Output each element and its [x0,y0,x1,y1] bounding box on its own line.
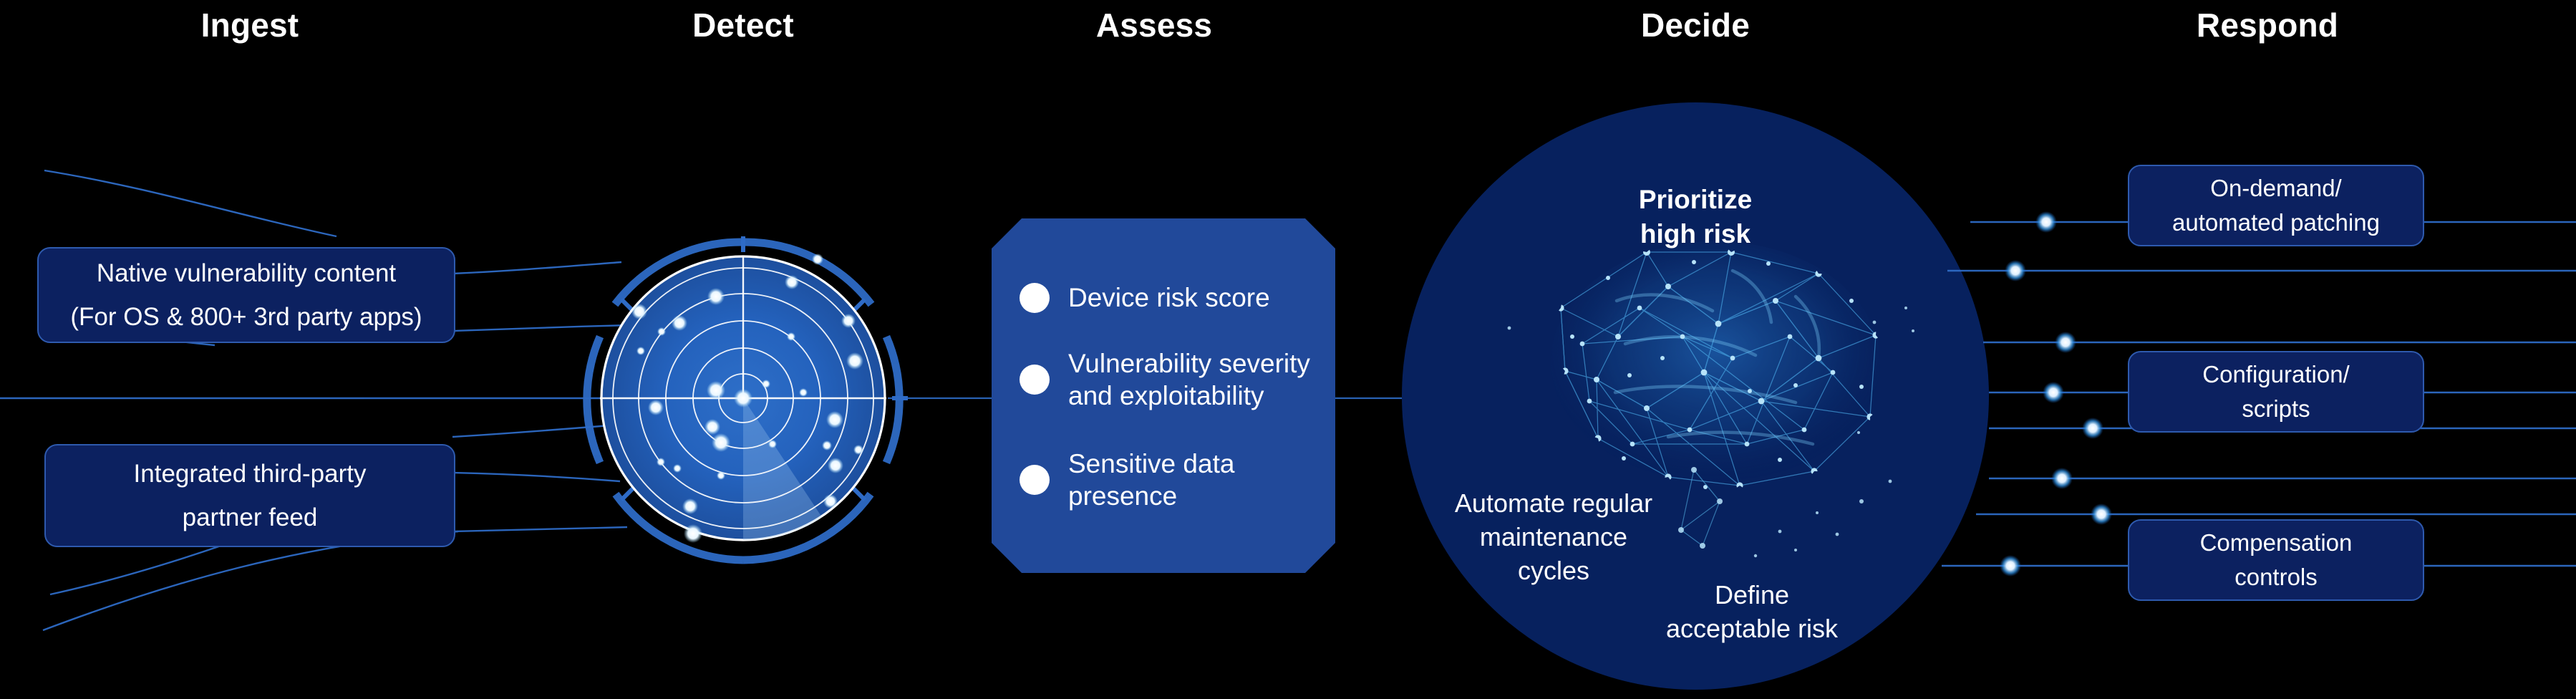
box-line: Native vulnerability content [97,251,396,295]
box-line: (For OS & 800+ 3rd party apps) [70,295,422,339]
box-line: partner feed [183,496,318,539]
assess-item-device-risk-score[interactable]: Device risk score [1020,281,1270,314]
stage-header-decide: Decide [1641,6,1750,44]
stage-header-assess: Assess [1096,6,1212,44]
respond-box-compensation-controls[interactable]: Compensation controls [2128,519,2424,601]
box-line: Configuration/ [2202,357,2349,392]
assess-item-label: Sensitive data presence [1068,448,1234,512]
bullet-icon [1020,465,1050,495]
box-line: Integrated third-party [134,452,367,496]
respond-box-configuration-scripts[interactable]: Configuration/ scripts [2128,351,2424,433]
assess-item-vulnerability-severity[interactable]: Vulnerability severity and exploitabilit… [1020,347,1310,412]
assess-item-label: Device risk score [1068,281,1270,314]
box-line: automated patching [2172,206,2380,240]
ingest-box-integrated-partner-feed[interactable]: Integrated third-party partner feed [44,444,455,547]
box-line: Compensation [2200,526,2353,560]
bullet-icon [1020,365,1050,395]
diagram-canvas: Ingest Detect Assess Decide Respond Nati… [0,0,2576,699]
bullet-icon [1020,283,1050,313]
decide-label-automate-maintenance: Automate regular maintenance cycles [1410,487,1697,587]
stage-header-detect: Detect [692,6,794,44]
stage-header-respond: Respond [2197,6,2338,44]
box-line: scripts [2242,392,2310,426]
assess-item-label: Vulnerability severity and exploitabilit… [1068,347,1310,412]
assess-item-sensitive-data-presence[interactable]: Sensitive data presence [1020,448,1234,512]
decide-label-define-acceptable-risk: Define acceptable risk [1602,579,1902,646]
box-line: On-demand/ [2210,171,2341,206]
radar-scanner-icon [587,236,908,560]
ingest-box-native-vulnerability-content[interactable]: Native vulnerability content (For OS & 8… [37,247,455,343]
connector-glow-dots [2000,211,2112,577]
stage-header-ingest: Ingest [201,6,299,44]
box-line: controls [2234,560,2318,594]
respond-box-on-demand-automated-patching[interactable]: On-demand/ automated patching [2128,165,2424,246]
decide-label-prioritize-high-risk: Prioritize high risk [1545,183,1846,251]
